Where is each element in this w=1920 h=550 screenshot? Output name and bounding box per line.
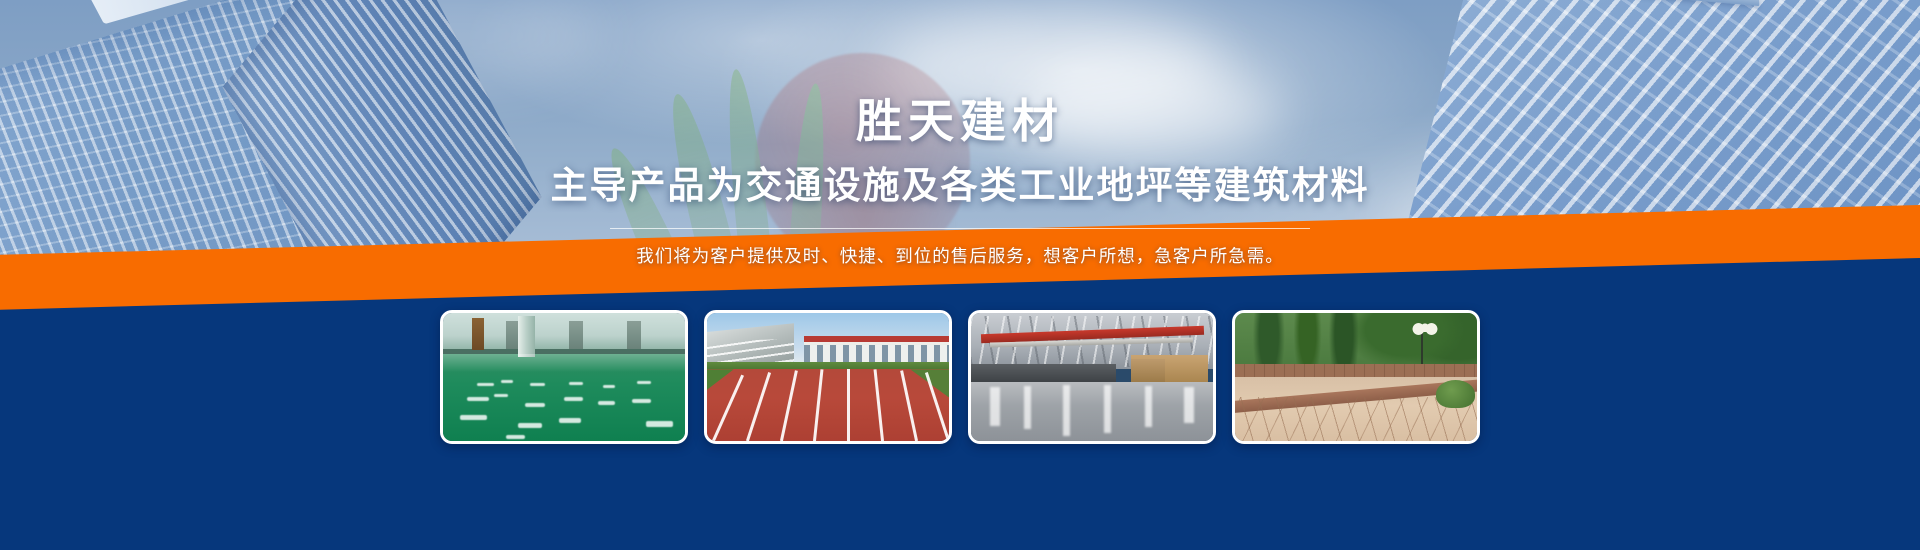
hero-banner: 胜天建材 主导产品为交通设施及各类工业地坪等建筑材料 我们将为客户提供及时、快捷… <box>0 0 1920 550</box>
thumb-warehouse-floor[interactable] <box>968 310 1216 444</box>
thumb-stamped-concrete[interactable] <box>1232 310 1480 444</box>
photo-warehouse-floor <box>971 313 1213 441</box>
thumb-green-epoxy-floor[interactable] <box>440 310 688 444</box>
banner-text-block: 胜天建材 主导产品为交通设施及各类工业地坪等建筑材料 我们将为客户提供及时、快捷… <box>0 0 1920 300</box>
product-thumbnail-strip <box>440 310 1480 440</box>
banner-subtitle: 主导产品为交通设施及各类工业地坪等建筑材料 <box>0 144 1920 207</box>
page-title: 胜天建材 <box>0 0 1920 144</box>
banner-tagline: 我们将为客户提供及时、快捷、到位的售后服务，想客户所想，急客户所急需。 <box>0 229 1920 268</box>
photo-running-track <box>707 313 949 441</box>
photo-stamped-concrete <box>1235 313 1477 441</box>
photo-green-epoxy-floor <box>443 313 685 441</box>
thumb-running-track[interactable] <box>704 310 952 444</box>
